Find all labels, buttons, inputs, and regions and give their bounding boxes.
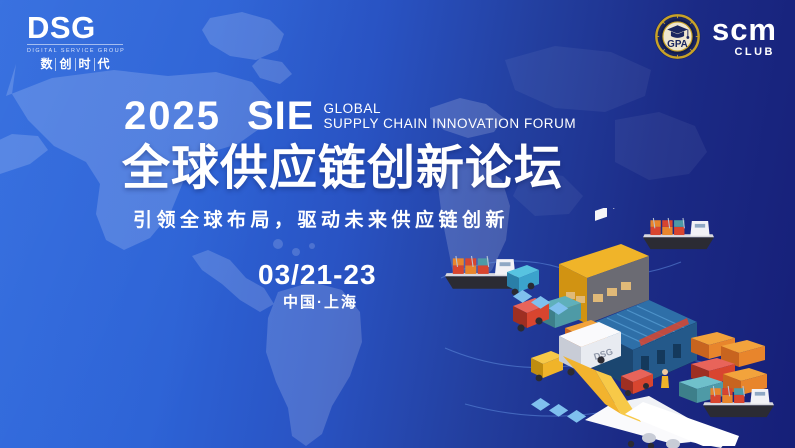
scm-club-sub: CLUB <box>734 46 775 58</box>
svg-text:DSG: DSG <box>593 346 615 362</box>
english-subtitle-line2: SUPPLY CHAIN INNOVATION FORUM <box>323 116 576 132</box>
cargo-ship-top-right <box>643 218 714 249</box>
event-date: 03/21-23 <box>258 259 377 291</box>
dsg-logo[interactable]: DSG DIGITAL SERVICE GROUP 数 创 时 代 <box>27 12 123 71</box>
dsg-cn-char-1: 数 <box>40 58 52 71</box>
english-subtitle: GLOBAL SUPPLY CHAIN INNOVATION FORUM <box>323 101 576 132</box>
dsg-tagline: DIGITAL SERVICE GROUP <box>27 44 123 55</box>
event-location: 中国·上海 <box>283 294 358 312</box>
chinese-tagline: 引领全球布局，驱动未来供应链创新 <box>133 209 509 233</box>
dsg-chinese-name: 数 创 时 代 <box>27 58 123 71</box>
event-acronym: SIE <box>247 96 314 136</box>
semi-truck-blue <box>507 265 539 295</box>
warehouse-yellow <box>559 208 649 324</box>
cargo-ship-bottom-right <box>703 386 774 417</box>
dsg-cn-char-2: 创 <box>59 58 71 71</box>
event-banner: DSG DIGITAL SERVICE GROUP 数 创 时 代 <box>0 0 795 448</box>
delivery-van-red <box>621 369 653 396</box>
semi-truck-red <box>513 298 549 332</box>
scm-wordmark: scm <box>712 15 777 45</box>
gpa-seal-icon[interactable]: GPA <box>654 13 701 60</box>
dsg-wordmark: DSG <box>27 12 123 43</box>
partner-logos[interactable]: GPA scm CLUB <box>654 13 777 60</box>
semi-truck-yellow: DSG <box>531 322 621 381</box>
worker-figure <box>661 369 669 388</box>
shipping-containers-left <box>539 296 607 352</box>
english-subtitle-line1: GLOBAL <box>323 101 576 116</box>
cargo-ship-left <box>445 256 520 289</box>
warehouse-blue-roof <box>585 300 697 388</box>
page-title: 全球供应链创新论坛 <box>122 144 563 194</box>
isometric-logistics-illustration: DSG <box>435 208 795 448</box>
scm-club-logo[interactable]: scm CLUB <box>712 15 777 58</box>
svg-text:GPA: GPA <box>667 39 688 50</box>
dsg-cn-char-4: 代 <box>98 58 110 71</box>
dsg-cn-char-3: 时 <box>79 58 91 71</box>
shipping-containers-right <box>679 332 767 403</box>
title-row-top: 2025 SIE GLOBAL SUPPLY CHAIN INNOVATION … <box>124 96 576 136</box>
cargo-airplane <box>563 356 739 448</box>
flow-arrows <box>513 290 586 423</box>
event-year: 2025 <box>124 96 221 136</box>
